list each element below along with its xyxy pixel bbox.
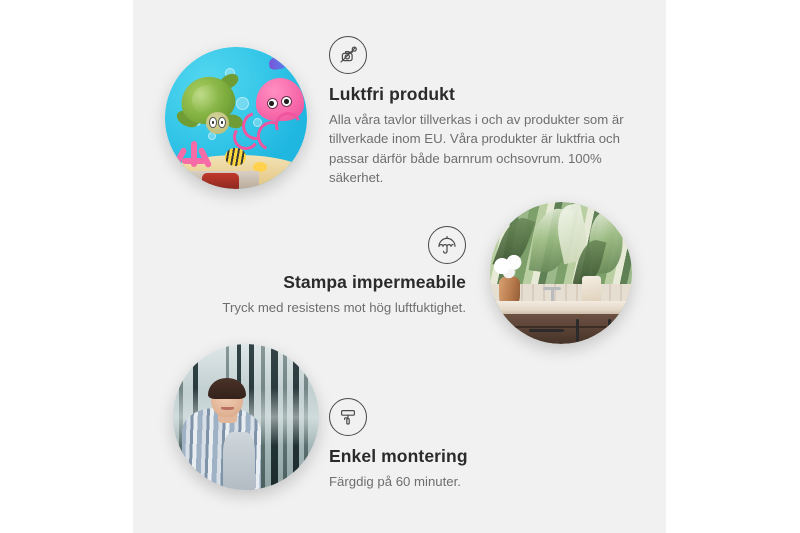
octopus-eye [281,96,292,107]
cabinet-handle [576,319,579,342]
turtle-eye [218,117,225,128]
bathroom-countertop [490,301,632,314]
photo-bathroom-inner [490,202,632,344]
feature-waterproof-title: Stampa impermeabile [196,272,466,294]
feature-odourless: Luktfri produkt Alla våra tavlor tillver… [329,36,624,188]
umbrella-icon [428,226,466,264]
paint-roller-icon [329,398,367,436]
flowers [491,253,528,281]
screenshot-canvas: Luktfri produkt Alla våra tavlor tillver… [0,0,800,533]
photo-underwater-kids-mural [165,47,307,189]
cabinet-handle [529,329,564,332]
feature-easy-mounting-title: Enkel montering [329,446,609,468]
mural-red-object [202,173,239,189]
feature-easy-mounting-text: Enkel montering Färgdig på 60 minuter. [329,446,609,491]
woman-torso [223,432,255,490]
feature-odourless-body: Alla våra tavlor tillverkas i och av pro… [329,110,624,188]
no-perfume-icon [329,36,367,74]
feature-panel: Luktfri produkt Alla våra tavlor tillver… [133,0,666,533]
feature-easy-mounting-body: Färgdig på 60 minuter. [329,472,609,491]
bubble-icon [236,97,249,110]
feature-odourless-title: Luktfri produkt [329,84,624,106]
photo-forest-inner [173,344,319,490]
feature-waterproof-text: Stampa impermeabile Tryck med resistens … [196,272,466,317]
feature-easy-mounting: Enkel montering Färgdig på 60 minuter. [329,398,609,491]
octopus-eye [267,98,278,109]
photo-bathroom-tropical-wallpaper [490,202,632,344]
fish-yellow [225,148,246,166]
feature-waterproof: Stampa impermeabile Tryck med resistens … [196,226,466,317]
feature-odourless-text: Luktfri produkt Alla våra tavlor tillver… [329,84,624,188]
photo-underwater-inner [165,47,307,189]
turtle-eye [209,117,216,128]
feature-waterproof-body: Tryck med resistens mot hög luftfuktighe… [196,298,466,317]
coral-arm [182,158,206,164]
turtle-head [206,112,229,133]
bathroom-cabinet [490,314,632,344]
cabinet-handle [608,319,611,342]
photo-woman-paint-roller-forest [173,344,319,490]
woman-smile [221,407,234,410]
